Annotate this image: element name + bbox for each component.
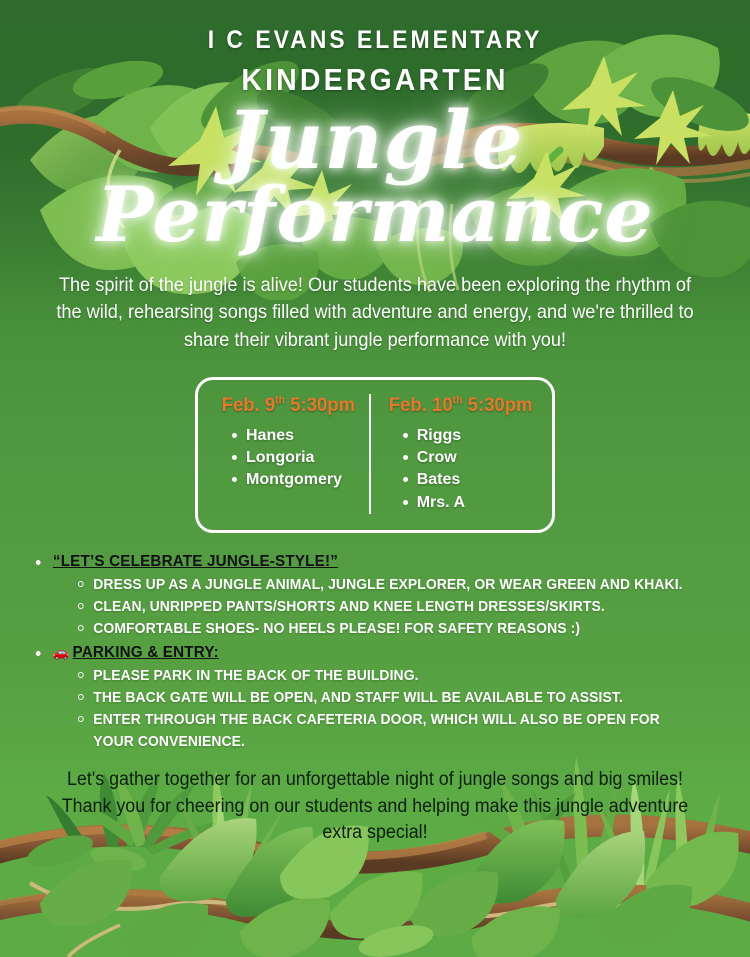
list-item: THE BACK GATE WILL BE OPEN, AND STAFF WI… xyxy=(76,687,696,709)
page-title: Jungle Performance xyxy=(0,104,750,250)
date-suffix-2: th xyxy=(452,394,462,406)
teacher-list-1: Hanes Longoria Montgomery xyxy=(214,425,363,492)
details-sections: “LET’S CELEBRATE JUNGLE-STYLE!” DRESS UP… xyxy=(32,553,722,753)
list-item: DRESS UP AS A JUNGLE ANIMAL, JUNGLE EXPL… xyxy=(76,574,696,596)
title-line-2: Performance xyxy=(0,180,750,250)
schedule-column-2: Feb. 10th 5:30pm Riggs Crow Bates Mrs. A xyxy=(369,394,542,515)
date-label-2: Feb. 10 xyxy=(388,394,452,416)
list-item: Hanes xyxy=(232,425,363,447)
dress-code-list: DRESS UP AS A JUNGLE ANIMAL, JUNGLE EXPL… xyxy=(76,574,722,640)
date-label-1: Feb. 9 xyxy=(222,394,276,416)
section-heading-label: “LET’S CELEBRATE JUNGLE-STYLE!” xyxy=(53,553,338,570)
section-dress-code: “LET’S CELEBRATE JUNGLE-STYLE!” DRESS UP… xyxy=(32,553,722,640)
list-item: ENTER THROUGH THE BACK CAFETERIA DOOR, W… xyxy=(76,709,696,753)
list-item: Bates xyxy=(403,469,536,491)
date-time-1: 5:30pm xyxy=(290,394,355,416)
schedule-column-1: Feb. 9th 5:30pm Hanes Longoria Montgomer… xyxy=(208,394,369,515)
school-name: I C EVANS ELEMENTARY xyxy=(30,26,720,55)
schedule-date-1: Feb. 9th 5:30pm xyxy=(218,394,359,417)
car-icon: 🚗 xyxy=(53,644,70,660)
list-item: Crow xyxy=(403,447,536,469)
list-item: Longoria xyxy=(232,447,363,469)
date-time-2: 5:30pm xyxy=(467,394,532,416)
bottom-center-foliage xyxy=(120,871,560,957)
section-heading-parking-entry: 🚗PARKING & ENTRY: xyxy=(32,644,688,662)
list-item: Mrs. A xyxy=(403,492,536,514)
list-item: PLEASE PARK IN THE BACK OF THE BUILDING. xyxy=(76,665,696,687)
list-item: Riggs xyxy=(403,425,536,447)
title-line-1: Jungle xyxy=(0,104,750,178)
header-block: I C EVANS ELEMENTARY KINDERGARTEN xyxy=(0,0,750,98)
section-heading-label: PARKING & ENTRY: xyxy=(73,644,219,661)
list-item: Montgomery xyxy=(232,469,363,491)
section-parking-entry: 🚗PARKING & ENTRY: PLEASE PARK IN THE BAC… xyxy=(32,644,722,753)
schedule-date-2: Feb. 10th 5:30pm xyxy=(388,394,532,417)
flyer-canvas: I C EVANS ELEMENTARY KINDERGARTEN Jungle… xyxy=(0,0,750,957)
list-item: COMFORTABLE SHOES- NO HEELS PLEASE! FOR … xyxy=(76,618,696,640)
schedule-box: Feb. 9th 5:30pm Hanes Longoria Montgomer… xyxy=(195,377,555,534)
teacher-list-2: Riggs Crow Bates Mrs. A xyxy=(385,425,536,515)
section-heading-dress-code: “LET’S CELEBRATE JUNGLE-STYLE!” xyxy=(32,553,688,571)
date-suffix-1: th xyxy=(275,394,285,406)
parking-entry-list: PLEASE PARK IN THE BACK OF THE BUILDING.… xyxy=(76,665,722,753)
intro-paragraph: The spirit of the jungle is alive! Our s… xyxy=(50,272,701,355)
closing-paragraph: Let's gather together for an unforgettab… xyxy=(51,767,700,846)
list-item: CLEAN, UNRIPPED PANTS/SHORTS AND KNEE LE… xyxy=(76,596,696,618)
